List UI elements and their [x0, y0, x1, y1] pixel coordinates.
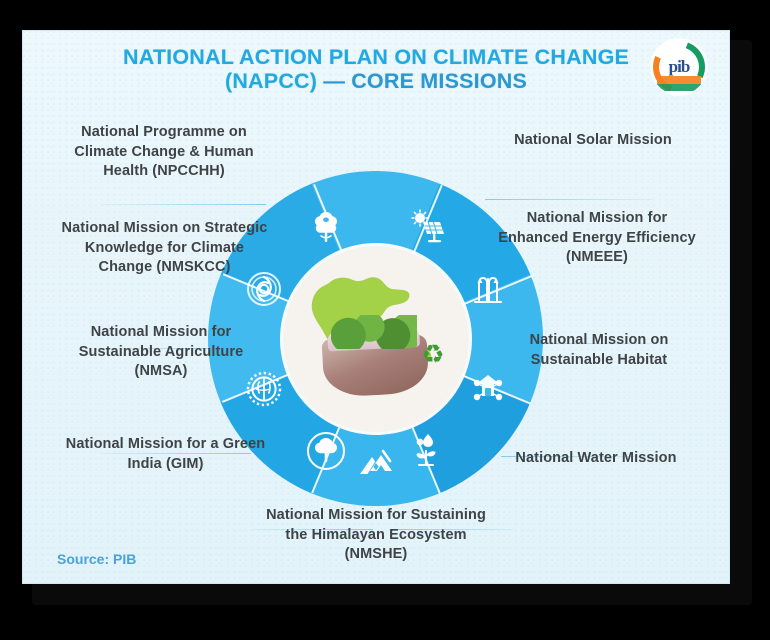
- tree-health-icon[interactable]: [304, 205, 348, 249]
- logo-green-band: [657, 84, 701, 91]
- page-title-line2: (NAPCC) — CORE MISSIONS: [23, 69, 729, 93]
- mission-label-gim[interactable]: National Mission for a Green India (GIM): [63, 435, 268, 474]
- green-tree-circle-icon[interactable]: [304, 429, 348, 473]
- mission-label-nmeee[interactable]: National Mission for Enhanced Energy Eff…: [491, 209, 703, 268]
- india-map-illustration: ♻: [301, 259, 451, 419]
- mission-label-habitat[interactable]: National Mission on Sustainable Habitat: [493, 331, 705, 370]
- mission-label-nmskcc[interactable]: National Mission on Strategic Knowledge …: [57, 219, 272, 278]
- mission-label-nsm[interactable]: National Solar Mission: [493, 131, 693, 151]
- page-title-subtitle: — CORE MISSIONS: [323, 69, 527, 93]
- sustainable-habitat-icon[interactable]: [466, 367, 510, 411]
- logo-saffron-band: [657, 76, 701, 84]
- pib-logo: pib: [651, 39, 707, 95]
- source-label: Source: PIB: [57, 551, 136, 567]
- mountain-icon[interactable]: [354, 439, 398, 483]
- page-title-line1: NATIONAL ACTION PLAN ON CLIMATE CHANGE: [23, 45, 729, 69]
- mission-label-nmsa[interactable]: National Mission for Sustainable Agricul…: [61, 323, 261, 382]
- screenshot-stage: NATIONAL ACTION PLAN ON CLIMATE CHANGE (…: [0, 0, 770, 640]
- mission-label-npcchh[interactable]: National Programme on Climate Change & H…: [59, 123, 269, 182]
- page-title-acronym: (NAPCC): [225, 69, 317, 93]
- wheel-center: ♻: [283, 246, 469, 432]
- water-drop-plant-icon[interactable]: [404, 429, 448, 473]
- mission-label-nwm[interactable]: National Water Mission: [501, 449, 691, 469]
- plant-sprouts: [331, 315, 417, 349]
- infographic-card: NATIONAL ACTION PLAN ON CLIMATE CHANGE (…: [22, 30, 730, 584]
- mission-label-nmshe[interactable]: National Mission for Sustaining the Hima…: [261, 506, 491, 565]
- recycle-icon: ♻: [421, 341, 444, 367]
- solar-panel-icon[interactable]: [404, 205, 448, 249]
- logo-text: pib: [669, 57, 690, 77]
- energy-efficiency-icon[interactable]: [466, 267, 510, 311]
- header: NATIONAL ACTION PLAN ON CLIMATE CHANGE (…: [23, 45, 729, 93]
